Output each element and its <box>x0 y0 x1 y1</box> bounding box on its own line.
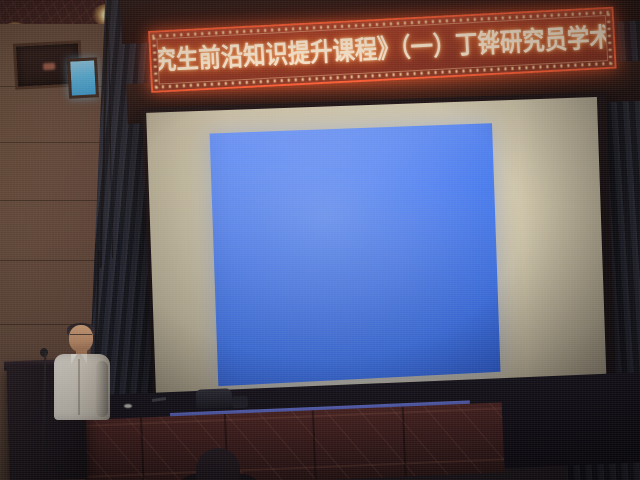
glasses-icon <box>70 334 92 339</box>
projection-sheen <box>210 123 501 386</box>
shirt-placket <box>78 359 80 415</box>
stage-indicator-light <box>124 404 132 408</box>
projection-screen <box>146 97 607 412</box>
shirt-collar-right <box>81 354 87 364</box>
small-monitor-box <box>232 396 248 409</box>
equipment-case <box>196 388 233 408</box>
projected-slide-area <box>210 123 501 386</box>
presenting-speaker <box>52 325 114 433</box>
shirt-collar-left <box>71 354 77 364</box>
lecture-hall-photo: 《研究生前沿知识提升课程》（一）丁铧研究员学术报告 <box>0 0 640 480</box>
banner-text: 《研究生前沿知识提升课程》（一）丁铧研究员学术报告 <box>156 22 608 77</box>
booth-indicator-light <box>43 62 55 70</box>
speaker-arm-shadow <box>96 361 108 417</box>
control-room-monitor <box>67 57 99 99</box>
